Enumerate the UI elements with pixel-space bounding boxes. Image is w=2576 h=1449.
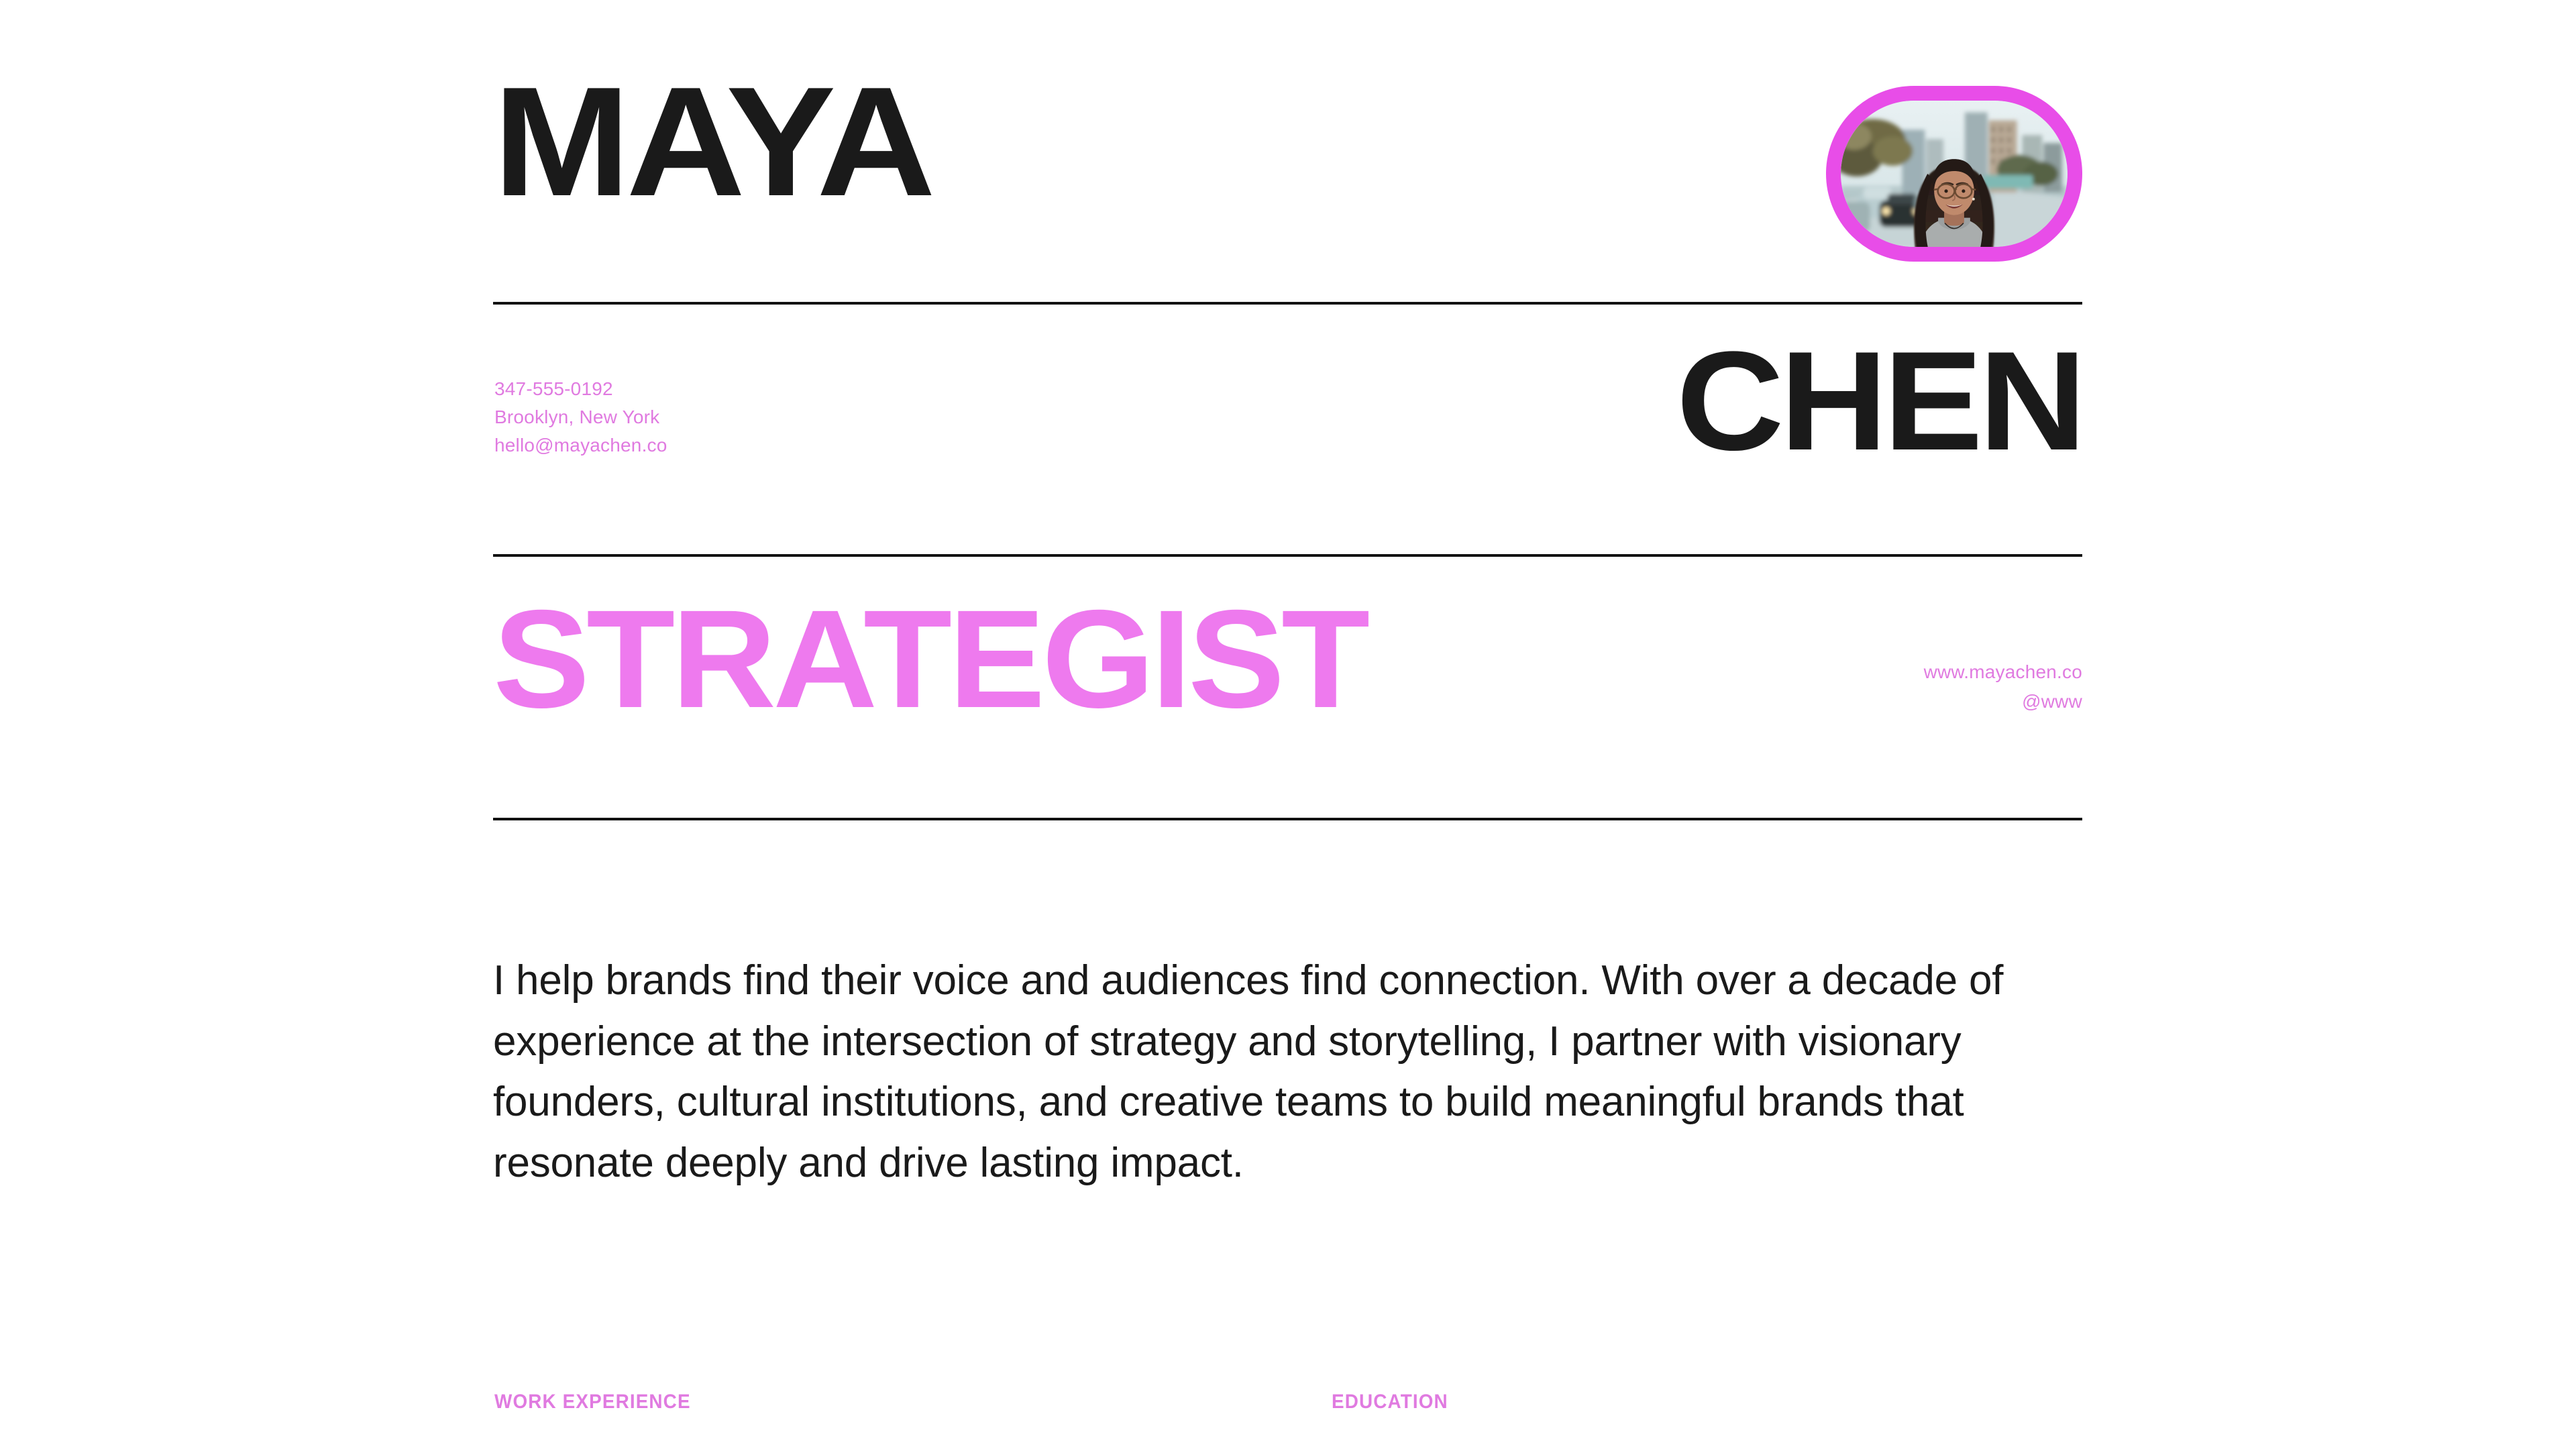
contact-email[interactable]: hello@mayachen.co bbox=[494, 436, 667, 455]
last-name-heading: CHEN bbox=[1676, 341, 2082, 462]
section-label-work-experience: WORK EXPERIENCE bbox=[494, 1391, 691, 1413]
links-block: www.mayachen.co @www bbox=[1924, 663, 2082, 711]
website-link[interactable]: www.mayachen.co bbox=[1924, 663, 2082, 682]
summary-paragraph: I help brands find their voice and audie… bbox=[493, 951, 2086, 1193]
social-handle[interactable]: @www bbox=[2022, 692, 2082, 711]
contact-location: Brooklyn, New York bbox=[494, 408, 667, 427]
avatar-photo bbox=[1841, 101, 2068, 247]
section-label-education: EDUCATION bbox=[1332, 1391, 1448, 1413]
resume-page: MAYA bbox=[0, 0, 2576, 1449]
contact-phone[interactable]: 347-555-0192 bbox=[494, 380, 667, 398]
divider-top bbox=[493, 302, 2082, 305]
first-name-heading: MAYA bbox=[493, 75, 931, 209]
contact-block: 347-555-0192 Brooklyn, New York hello@ma… bbox=[494, 380, 667, 455]
divider-bottom bbox=[493, 818, 2082, 820]
avatar bbox=[1826, 86, 2082, 262]
role-heading: STRATEGIST bbox=[493, 597, 1366, 722]
divider-middle bbox=[493, 554, 2082, 557]
